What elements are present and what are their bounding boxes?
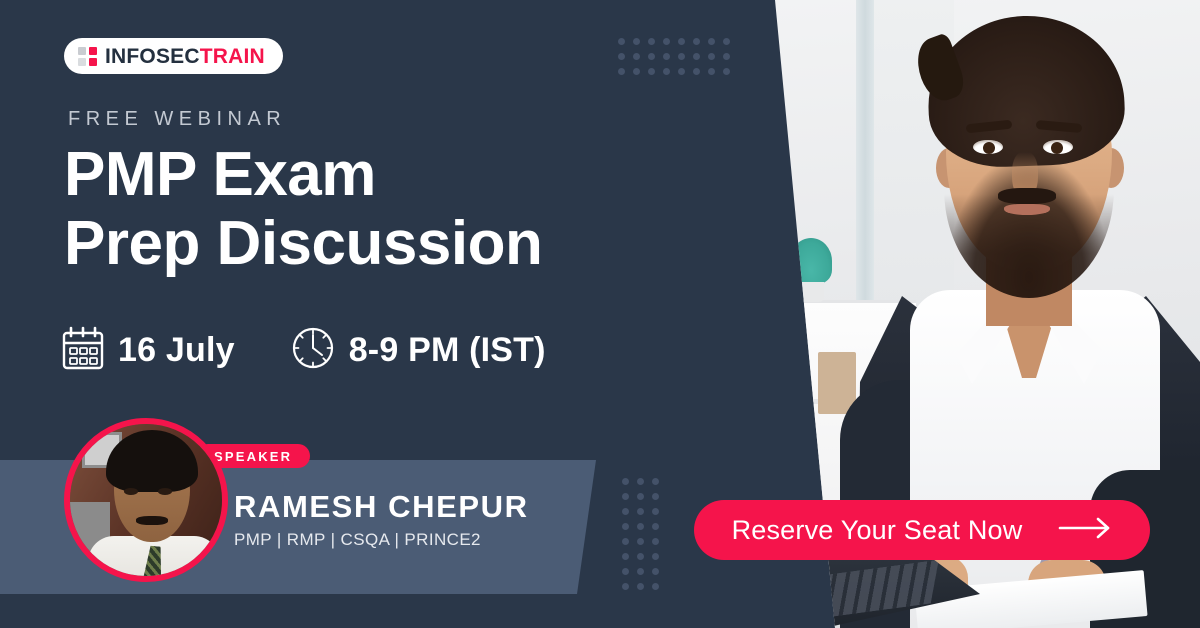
infosectrain-logo[interactable]: INFOSECTRAIN: [64, 38, 283, 74]
speaker-credentials: PMP | RMP | CSQA | PRINCE2: [234, 530, 529, 550]
pupil-left: [983, 142, 995, 154]
webinar-date: 16 July: [118, 331, 235, 370]
cta-label: Reserve Your Seat Now: [732, 515, 1023, 546]
title-line-1: PMP Exam: [64, 140, 744, 209]
reserve-seat-button[interactable]: Reserve Your Seat Now: [694, 500, 1150, 560]
dot-grid-bottom: [622, 478, 659, 590]
webinar-time: 8-9 PM (IST): [349, 331, 546, 370]
clock-icon: [291, 326, 335, 375]
eyebrow-label: FREE WEBINAR: [68, 108, 286, 131]
avatar: [64, 418, 228, 582]
title-line-2: Prep Discussion: [64, 209, 744, 278]
calendar-icon: [62, 326, 104, 375]
schedule-row: 16 July 8-9 PM (IST): [62, 326, 546, 375]
logo-wordmark: INFOSECTRAIN: [105, 46, 265, 67]
webinar-banner: INFOSECTRAIN FREE WEBINAR PMP Exam Prep …: [0, 0, 1200, 628]
avatar-moustache: [136, 516, 168, 525]
time-item: 8-9 PM (IST): [291, 326, 546, 375]
date-item: 16 July: [62, 326, 235, 375]
page-title: PMP Exam Prep Discussion: [64, 140, 744, 279]
hair: [925, 13, 1126, 170]
logo-text-infosec: INFOSEC: [105, 45, 200, 68]
pupil-right: [1051, 142, 1063, 154]
avatar-eye-right: [158, 488, 172, 495]
speaker-info: RAMESH CHEPUR PMP | RMP | CSQA | PRINCE2: [234, 490, 529, 550]
dot-grid-top: [618, 38, 730, 75]
arrow-right-icon: [1058, 517, 1112, 544]
moustache: [998, 188, 1056, 204]
avatar-eye-left: [124, 488, 138, 495]
speaker-name: RAMESH CHEPUR: [234, 490, 529, 524]
mouth: [1004, 204, 1050, 215]
logo-text-train: TRAIN: [200, 45, 265, 68]
grid-squares-icon: [78, 47, 97, 66]
